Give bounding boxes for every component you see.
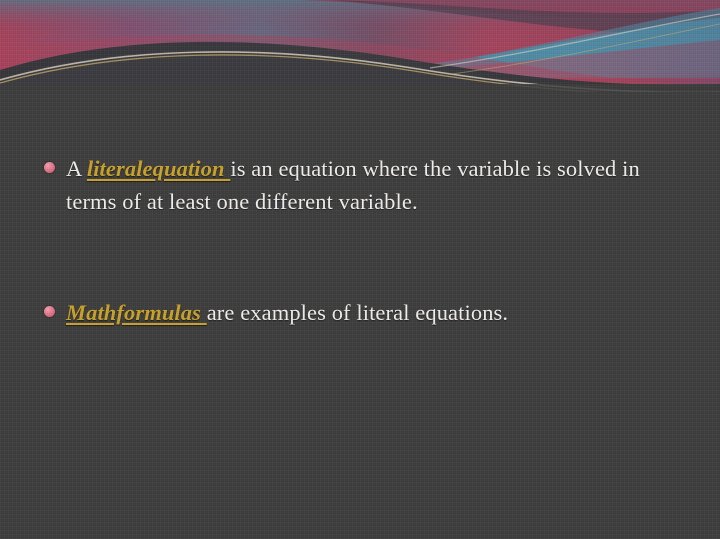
bullet-1-emphasis: literalequation <box>87 156 231 181</box>
bullet-dot-icon <box>44 162 55 173</box>
bullet-dot-icon <box>44 306 55 317</box>
list-item: A literalequation is an equation where t… <box>44 152 674 218</box>
list-item: Mathformulas are examples of literal equ… <box>44 296 674 329</box>
bullet-2-emphasis: Mathformulas <box>66 300 207 325</box>
bullet-text-1: A literalequation is an equation where t… <box>66 152 674 218</box>
slide-body: A literalequation is an equation where t… <box>0 0 720 539</box>
bullet-text-2: Mathformulas are examples of literal equ… <box>66 296 674 329</box>
presentation-slide: A literalequation is an equation where t… <box>0 0 720 539</box>
bullet-1-lead: A <box>66 156 87 181</box>
bullet-2-rest: are examples of literal equations. <box>207 300 508 325</box>
